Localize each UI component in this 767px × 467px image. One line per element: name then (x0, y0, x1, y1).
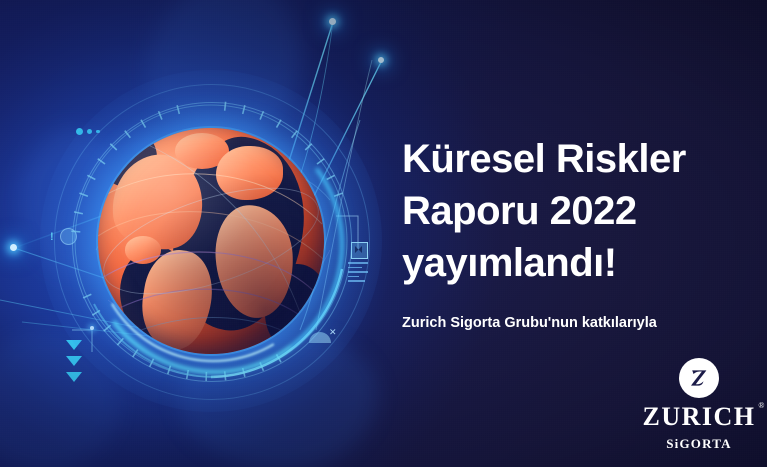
banner-copy: Küresel Riskler Raporu 2022 yayımlandı! … (402, 133, 742, 331)
zurich-wordmark: ZURICH ® (642, 404, 755, 430)
page-title: Küresel Riskler Raporu 2022 yayımlandı! (402, 133, 742, 289)
global-risks-report-banner: ! ✕ (0, 0, 767, 467)
zurich-wordmark-text: ZURICH (642, 402, 755, 431)
sigorta-label: SiGORTA (640, 437, 758, 450)
trademark-icon: ® (758, 402, 764, 410)
zurich-sigorta-logo[interactable]: ZURICH ® SiGORTA (640, 358, 758, 450)
zurich-z-badge-icon (679, 358, 719, 398)
banner-subtitle: Zurich Sigorta Grubu'nun katkılarıyla (402, 315, 742, 331)
